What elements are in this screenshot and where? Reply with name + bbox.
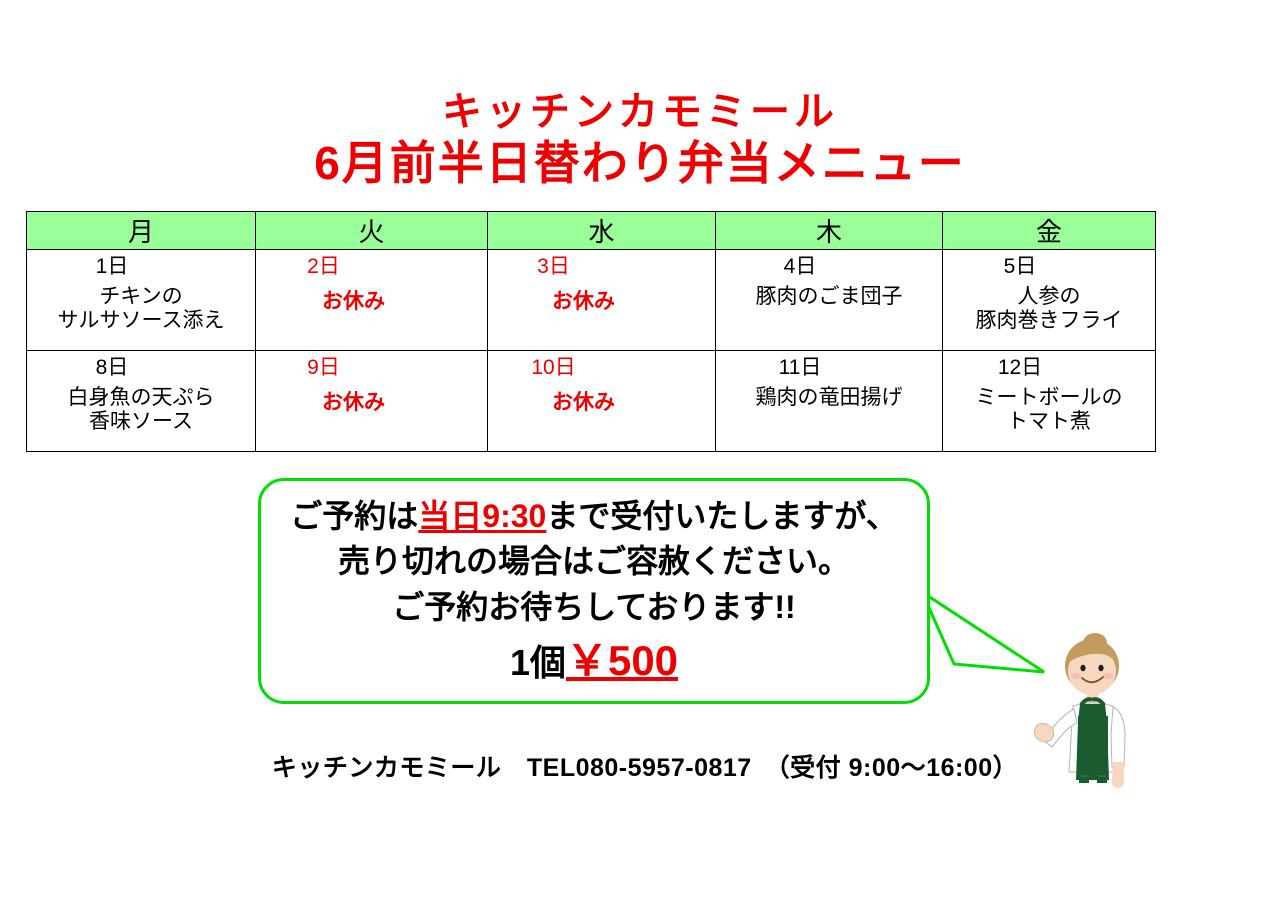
dish-line-1: 鶏肉の竜田揚げ [716,386,942,410]
menu-cell-day-10: 10日 お休み [488,351,716,452]
menu-cell-day-12: 12日 ミートボールの トマト煮 [943,351,1156,452]
column-header-wednesday: 水 [488,212,716,250]
dish-name: ミートボールの トマト煮 [943,379,1155,433]
day-number: 3日 [488,250,715,278]
day-number: 12日 [943,351,1155,379]
day-number: 10日 [488,351,715,379]
day-number: 1日 [27,250,255,278]
menu-cell-day-2: 2日 お休み [256,250,488,351]
menu-cell-day-3: 3日 お休み [488,250,716,351]
reservation-deadline-line: ご予約は当日9:30まで受付いたしますが、 [261,494,927,539]
menu-cell-day-5: 5日 人参の 豚肉巻きフライ [943,250,1156,351]
dish-line-1: 白身魚の天ぷら [27,386,255,410]
day-number: 4日 [716,250,942,278]
dish-line-2: トマト煮 [943,410,1155,434]
menu-cell-day-11: 11日 鶏肉の竜田揚げ [716,351,943,452]
announcement-speech-bubble: ご予約は当日9:30まで受付いたしますが、 売り切れの場合はご容赦ください。 ご… [258,478,930,704]
dish-name: チキンの サルサソース添え [27,278,255,332]
price-value: ￥500 [566,637,678,684]
dish-line-2: 豚肉巻きフライ [943,309,1155,333]
staff-character-illustration [1025,630,1160,830]
dish-name: 豚肉のごま団子 [716,278,942,309]
table-header-row: 月 火 水 木 金 [27,212,1156,250]
dish-line-1: チキンの [27,285,255,309]
day-number: 2日 [256,250,487,278]
column-header-monday: 月 [27,212,256,250]
page-title: キッチンカモミール 6月前半日替わり弁当メニュー [0,92,1280,186]
dish-line-2: サルサソース添え [27,309,255,333]
day-number: 9日 [256,351,487,379]
column-header-friday: 金 [943,212,1156,250]
column-header-thursday: 木 [716,212,943,250]
reservation-prefix: ご予約は [290,498,418,534]
await-reservation-line: ご予約お待ちしております!! [261,585,927,630]
column-header-tuesday: 火 [256,212,488,250]
shop-name-title: キッチンカモミール [0,92,1280,132]
table-row: 1日 チキンの サルサソース添え 2日 お休み 3日 お休み 4日 豚肉のごま団… [27,250,1156,351]
day-number: 8日 [27,351,255,379]
dish-name: 人参の 豚肉巻きフライ [943,278,1155,332]
menu-cell-day-1: 1日 チキンの サルサソース添え [27,250,256,351]
price-line: 1個￥500 [261,630,927,689]
dish-line-2: 香味ソース [27,410,255,434]
weekly-menu-table: 月 火 水 木 金 1日 チキンの サルサソース添え 2日 お休み 3日 お休み [26,211,1156,452]
closed-label: お休み [488,278,715,314]
day-number: 5日 [943,250,1155,278]
dish-name: 鶏肉の竜田揚げ [716,379,942,410]
day-number: 11日 [716,351,942,379]
price-prefix: 1個 [510,642,566,683]
menu-period-title: 6月前半日替わり弁当メニュー [0,140,1280,186]
dish-line-1: ミートボールの [943,386,1155,410]
dish-line-1: 豚肉のごま団子 [716,285,942,309]
closed-label: お休み [256,379,487,415]
reservation-deadline-accent: 当日9:30 [418,498,546,534]
closed-label: お休み [488,379,715,415]
dish-name: 白身魚の天ぷら 香味ソース [27,379,255,433]
menu-cell-day-4: 4日 豚肉のごま団子 [716,250,943,351]
dish-line-1: 人参の [943,285,1155,309]
soldout-notice-line: 売り切れの場合はご容赦ください。 [261,539,927,584]
menu-cell-day-8: 8日 白身魚の天ぷら 香味ソース [27,351,256,452]
reservation-suffix: まで受付いたしますが、 [546,498,897,534]
closed-label: お休み [256,278,487,314]
menu-cell-day-9: 9日 お休み [256,351,488,452]
table-row: 8日 白身魚の天ぷら 香味ソース 9日 お休み 10日 お休み 11日 鶏肉の竜… [27,351,1156,452]
